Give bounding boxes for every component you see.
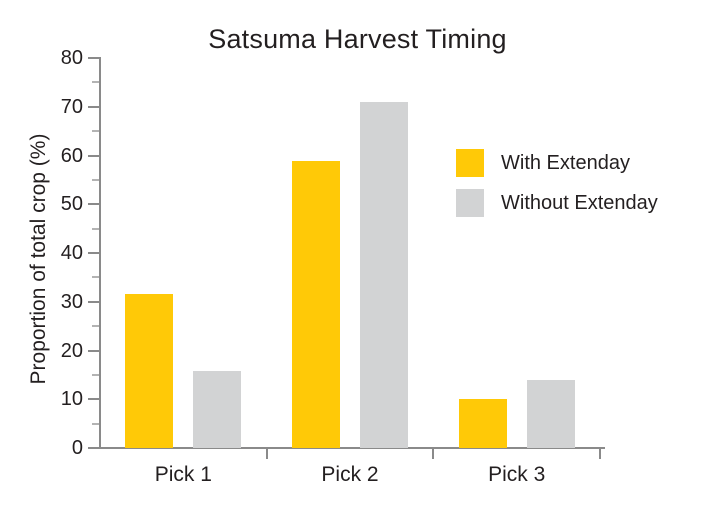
legend-item-without-extenday[interactable]: Without Extenday bbox=[456, 183, 658, 223]
x-tick-label: Pick 1 bbox=[103, 462, 263, 488]
bar-pick-2-without-extenday bbox=[360, 102, 408, 448]
y-tick-major bbox=[88, 350, 99, 352]
legend: With Extenday Without Extenday bbox=[456, 143, 658, 223]
y-tick-label: 60 bbox=[28, 146, 83, 166]
legend-item-with-extenday[interactable]: With Extenday bbox=[456, 143, 658, 183]
y-tick-minor bbox=[92, 81, 99, 83]
x-tick bbox=[599, 449, 601, 459]
bar-pick-3-without-extenday bbox=[527, 380, 575, 448]
y-tick-major bbox=[88, 106, 99, 108]
y-tick-minor bbox=[92, 130, 99, 132]
y-tick-label: 50 bbox=[28, 194, 83, 214]
bar-pick-3-with-extenday bbox=[459, 399, 507, 448]
chart-title: Satsuma Harvest Timing bbox=[0, 24, 705, 55]
x-tick-label: Pick 2 bbox=[270, 462, 430, 488]
x-tick-label: Pick 3 bbox=[437, 462, 597, 488]
y-tick-minor bbox=[92, 423, 99, 425]
bar-pick-1-without-extenday bbox=[193, 371, 241, 448]
y-tick-label: 40 bbox=[28, 243, 83, 263]
y-tick-label: 10 bbox=[28, 389, 83, 409]
y-tick-major bbox=[88, 57, 99, 59]
y-tick-major bbox=[88, 155, 99, 157]
legend-swatch-icon-with-extenday bbox=[456, 149, 484, 177]
y-tick-major bbox=[88, 301, 99, 303]
y-tick-minor bbox=[92, 276, 99, 278]
x-tick bbox=[432, 449, 434, 459]
y-tick-label: 0 bbox=[28, 438, 83, 458]
legend-swatch-icon-without-extenday bbox=[456, 189, 484, 217]
bar-pick-2-with-extenday bbox=[292, 161, 340, 448]
y-tick-minor bbox=[92, 374, 99, 376]
y-tick-minor bbox=[92, 179, 99, 181]
y-tick-label: 20 bbox=[28, 341, 83, 361]
bar-pick-1-with-extenday bbox=[125, 294, 173, 448]
legend-label-with-extenday: With Extenday bbox=[501, 153, 630, 173]
y-tick-major bbox=[88, 203, 99, 205]
bar-chart: Satsuma Harvest Timing Proportion of tot… bbox=[0, 0, 705, 506]
y-tick-label: 30 bbox=[28, 292, 83, 312]
y-tick-major bbox=[88, 252, 99, 254]
y-tick-minor bbox=[92, 228, 99, 230]
y-tick-major bbox=[88, 398, 99, 400]
y-tick-minor bbox=[92, 325, 99, 327]
x-tick bbox=[266, 449, 268, 459]
y-axis-line bbox=[99, 57, 101, 449]
y-tick-major bbox=[88, 447, 99, 449]
y-tick-label: 80 bbox=[28, 48, 83, 68]
y-tick-label: 70 bbox=[28, 97, 83, 117]
legend-label-without-extenday: Without Extenday bbox=[501, 193, 658, 213]
